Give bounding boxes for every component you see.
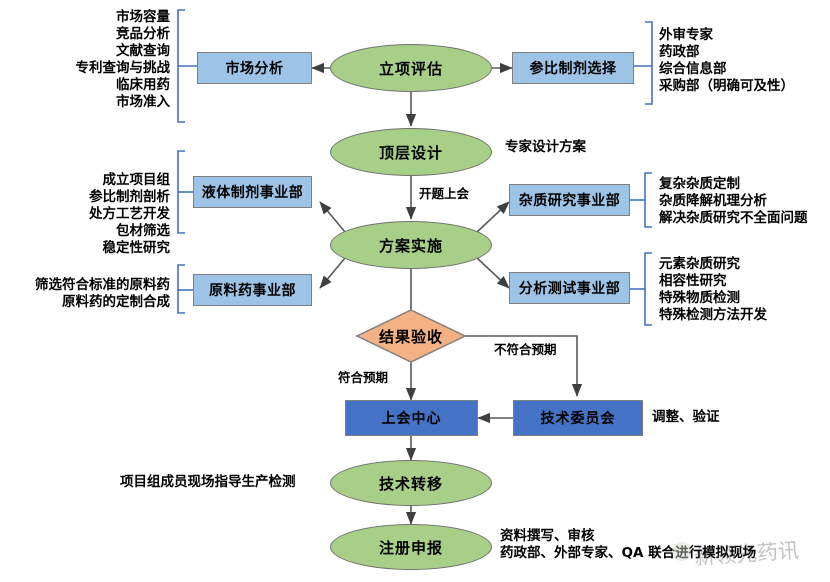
bracket-analytical [645, 253, 652, 325]
node-yeti-zhiji-shiyebu[interactable]: 液体制剂事业部 [193, 176, 312, 208]
diamond-label-jieguo-yanshou: 结果验收 [357, 310, 465, 362]
bracket-reference-drug [645, 22, 652, 104]
annotation-analytical-items: 元素杂质研究 相容性研究 特殊物质检测 特殊检测方法开发 [659, 256, 767, 324]
edge-label-kaiti-shanghui: 开题上会 [419, 183, 469, 202]
annotation-reference-drug-items: 外审专家 药政部 综合信息部 采购部（明确可及性） [659, 27, 794, 95]
node-shichang-fenxi[interactable]: 市场分析 [197, 52, 312, 84]
edge-fangan-to-yeti [320, 202, 345, 232]
node-zazhi-yanjiu-shiyebu[interactable]: 杂质研究事业部 [509, 184, 630, 216]
node-canbi-zhiji-xuanze[interactable]: 参比制剂选择 [512, 52, 634, 84]
annotation-registration-note: 资料撰写、审核 药政部、外部专家、QA 联合进行模拟现场 [500, 528, 756, 562]
bracket-impurity [645, 173, 652, 227]
annotation-liquid-formulation-items: 成立项目组 参比制剂剖析 处方工艺开发 包材筛选 稳定性研究 [28, 172, 170, 257]
flowchart-canvas: 立项评估 市场分析 参比制剂选择 顶层设计 液体制剂事业部 杂质研究事业部 方案… [0, 0, 830, 582]
annotation-tech-transfer-note: 项目组成员现场指导生产检测 [120, 474, 296, 491]
node-jieguo-yanshou[interactable]: 结果验收 [357, 310, 465, 362]
edge-fangan-to-fenxi [477, 258, 509, 288]
annotation-expert-design: 专家设计方案 [505, 139, 586, 156]
annotation-adjust-verify: 调整、验证 [652, 409, 720, 426]
node-yuanliaoyao-shiyebu[interactable]: 原料药事业部 [193, 274, 312, 306]
annotation-market-analysis-items: 市场容量 竞品分析 文献查询 专利查询与挑战 临床用药 市场准入 [28, 9, 170, 111]
edge-fangan-to-zazhi [477, 202, 509, 232]
edge-label-bufuhe-yuqi: 不符合预期 [494, 339, 557, 358]
annotation-api-items: 筛选符合标准的原料药 原料药的定制合成 [6, 277, 170, 311]
node-jishu-weiyuanhui[interactable]: 技术委员会 [513, 400, 643, 436]
node-dingceng-sheji[interactable]: 顶层设计 [330, 128, 492, 176]
node-zhuce-shenbao[interactable]: 注册申报 [330, 524, 492, 570]
bracket-api [178, 265, 185, 313]
annotation-impurity-items: 复杂杂质定制 杂质降解机理分析 解决杂质研究不全面问题 [659, 176, 808, 227]
node-jishu-zhuanyi[interactable]: 技术转移 [330, 460, 492, 506]
edge-fangan-to-yuanliao [320, 258, 345, 288]
edge-label-fuhe-yuqi: 符合预期 [338, 367, 388, 386]
node-lixiang-pinggu[interactable]: 立项评估 [330, 44, 492, 92]
node-shanghui-zhongxin[interactable]: 上会中心 [345, 400, 478, 436]
node-fenxi-ceshi-shiyebu[interactable]: 分析测试事业部 [509, 272, 630, 304]
node-fangan-shishi[interactable]: 方案实施 [330, 221, 492, 269]
